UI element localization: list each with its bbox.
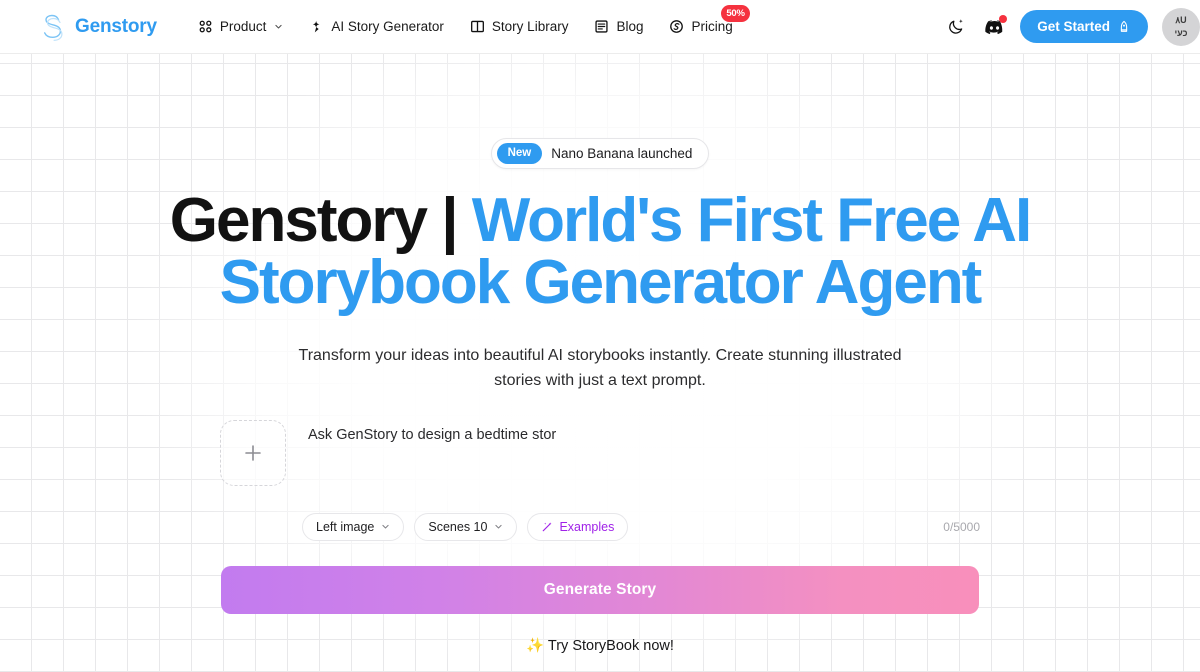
article-icon	[594, 19, 609, 34]
announcement-text: Nano Banana launched	[551, 146, 692, 161]
get-started-label: Get Started	[1037, 19, 1110, 34]
announcement-pill[interactable]: New Nano Banana launched	[491, 138, 710, 169]
nav-item-label: Blog	[616, 19, 643, 34]
brand-name: Genstory	[75, 16, 157, 38]
plus-icon	[241, 441, 265, 465]
rocket-icon	[1117, 20, 1131, 34]
nav-item-label: Product	[220, 19, 267, 34]
book-open-icon	[470, 19, 485, 34]
chevron-down-icon	[274, 22, 283, 31]
nav-links: Product AI Story Generator Story Library	[187, 12, 744, 41]
chip-label: Scenes 10	[428, 520, 487, 534]
prompt-input[interactable]	[308, 420, 980, 486]
chevron-down-icon	[494, 522, 503, 531]
nav-item-blog[interactable]: Blog	[583, 12, 654, 41]
discord-button[interactable]	[982, 15, 1006, 39]
discord-notification-dot	[999, 15, 1007, 23]
wand-icon	[541, 521, 553, 533]
chip-scenes-select[interactable]: Scenes 10	[414, 513, 517, 541]
nav-item-pricing[interactable]: Pricing 50%	[658, 12, 743, 41]
composer-options-bar: Left image Scenes 10 Examples 0/5000	[220, 513, 980, 541]
grid-dots-icon	[198, 19, 213, 34]
image-upload-button[interactable]	[220, 420, 286, 486]
genstory-s-logo-icon	[40, 13, 66, 41]
price-spiral-icon	[669, 19, 684, 34]
top-navbar: Genstory Product AI Story Generator	[0, 0, 1200, 54]
page-title: Genstory | World's First Free AI Storybo…	[0, 190, 1200, 314]
nav-item-story-library[interactable]: Story Library	[459, 12, 580, 41]
character-counter: 0/5000	[943, 520, 980, 534]
hero-subtitle: Transform your ideas into beautiful AI s…	[280, 344, 920, 394]
try-storybook-link[interactable]: ✨ Try StoryBook now!	[0, 637, 1200, 654]
chip-label: Left image	[316, 520, 374, 534]
chip-label: Examples	[559, 520, 614, 534]
composer-top-row	[220, 420, 980, 486]
nav-item-ai-story-generator[interactable]: AI Story Generator	[298, 12, 455, 41]
story-composer: Left image Scenes 10 Examples 0/5000	[220, 420, 980, 541]
nav-item-product[interactable]: Product	[187, 12, 295, 41]
generate-story-button[interactable]: Generate Story	[221, 566, 979, 614]
brand-logo-link[interactable]: Genstory	[40, 13, 157, 41]
hero-section: New Nano Banana launched Genstory | Worl…	[0, 54, 1200, 394]
chevron-down-icon	[381, 522, 390, 531]
navbar-right-actions: Get Started ٨U כעי	[944, 8, 1182, 46]
headline-dark-part: Genstory |	[170, 186, 457, 255]
user-avatar[interactable]: ٨U כעי	[1162, 8, 1200, 46]
pricing-discount-badge: 50%	[721, 5, 749, 22]
nav-item-label: Story Library	[492, 19, 569, 34]
avatar-line-1: ٨U	[1175, 14, 1186, 26]
avatar-line-2: כעי	[1174, 27, 1187, 39]
theme-toggle-button[interactable]	[944, 15, 968, 39]
nav-item-label: AI Story Generator	[331, 19, 444, 34]
chip-examples-button[interactable]: Examples	[527, 513, 628, 541]
announcement-tag: New	[497, 143, 543, 164]
sparkle-pen-icon	[309, 19, 324, 34]
get-started-button[interactable]: Get Started	[1020, 10, 1148, 43]
moon-sparkle-icon	[947, 17, 966, 36]
chip-layout-select[interactable]: Left image	[302, 513, 404, 541]
